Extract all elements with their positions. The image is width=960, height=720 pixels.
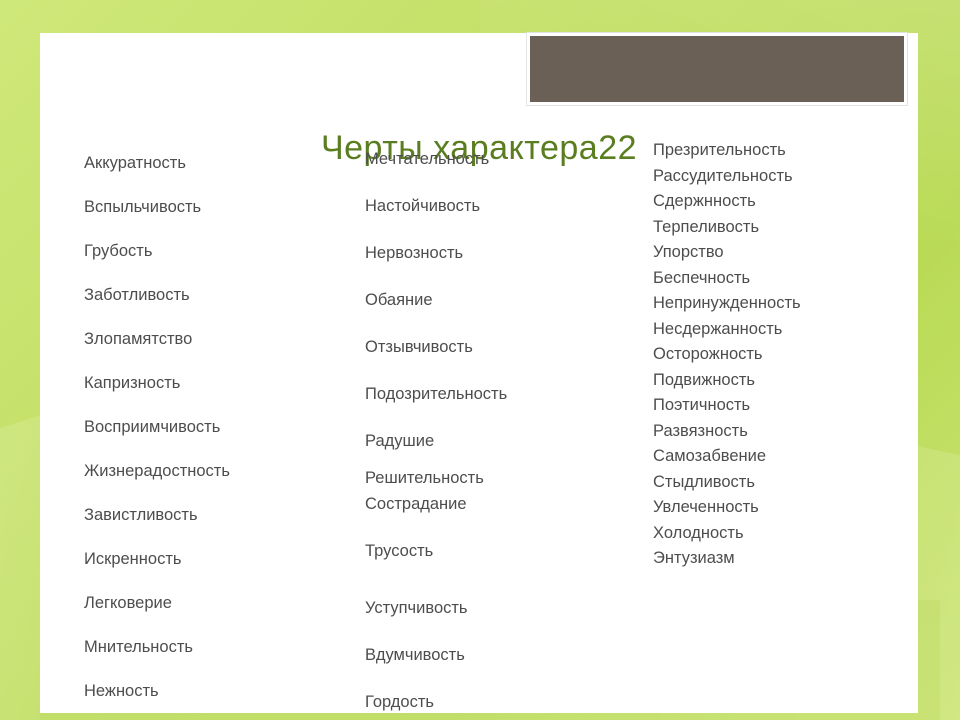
list-item: Мнительность bbox=[80, 625, 370, 669]
list-item: Радушие bbox=[365, 418, 655, 465]
list-item: Искренность bbox=[80, 537, 370, 581]
list-item: Стыдливость bbox=[653, 470, 903, 496]
list-item: Рассудительность bbox=[653, 164, 903, 190]
list-item: Жизнерадостность bbox=[80, 449, 370, 493]
list-item: Упорство bbox=[653, 240, 903, 266]
slide: Черты характера22 Аккуратность Вспыльчив… bbox=[0, 0, 960, 720]
list-item: Поэтичность bbox=[653, 393, 903, 419]
list-item: Вспыльчивость bbox=[80, 185, 370, 229]
list-item: Злопамятство bbox=[80, 317, 370, 361]
list-item: Аккуратность bbox=[80, 141, 370, 185]
list-item: Отзывчивость bbox=[365, 324, 655, 371]
list-item: Непринужденность bbox=[653, 291, 903, 317]
list-item: Настойчивость bbox=[365, 183, 655, 230]
list-item: Решительность bbox=[365, 465, 655, 491]
list-item: Капризность bbox=[80, 361, 370, 405]
list-item: Нервозность bbox=[365, 230, 655, 277]
list-item: Нежность bbox=[80, 669, 370, 713]
video-placeholder[interactable] bbox=[527, 33, 907, 105]
list-item: Терпеливость bbox=[653, 215, 903, 241]
list-item: Подвижность bbox=[653, 368, 903, 394]
slide-content-card: Черты характера22 Аккуратность Вспыльчив… bbox=[40, 33, 918, 713]
list-item: Обаяние bbox=[365, 277, 655, 324]
list-item: Несдержанность bbox=[653, 317, 903, 343]
list-item: Сострадание bbox=[365, 491, 655, 517]
list-item: Восприимчивость bbox=[80, 405, 370, 449]
list-item: Презрительность bbox=[653, 138, 903, 164]
traits-column-1: Аккуратность Вспыльчивость Грубость Забо… bbox=[80, 141, 370, 713]
list-item: Холодность bbox=[653, 521, 903, 547]
list-item: Энтузиазм bbox=[653, 546, 903, 572]
list-item: Сдержнность bbox=[653, 189, 903, 215]
traits-column-3: Презрительность Рассудительность Сдержнн… bbox=[653, 138, 903, 572]
list-item: Беспечность bbox=[653, 266, 903, 292]
list-item: Уступчивость bbox=[365, 585, 655, 632]
list-item: Трусость bbox=[365, 517, 655, 585]
list-item: Заботливость bbox=[80, 273, 370, 317]
list-item: Завистливость bbox=[80, 493, 370, 537]
list-item: Грубость bbox=[80, 229, 370, 273]
list-item: Вдумчивость bbox=[365, 632, 655, 679]
list-item: Легковерие bbox=[80, 581, 370, 625]
list-item: Мечтательность bbox=[365, 136, 655, 183]
list-item: Увлеченность bbox=[653, 495, 903, 521]
traits-column-2: Мечтательность Настойчивость Нервозность… bbox=[365, 136, 655, 720]
list-item: Осторожность bbox=[653, 342, 903, 368]
list-item: Самозабвение bbox=[653, 444, 903, 470]
list-item: Подозрительность bbox=[365, 371, 655, 418]
list-item: Развязность bbox=[653, 419, 903, 445]
list-item: Гордость bbox=[365, 679, 655, 720]
